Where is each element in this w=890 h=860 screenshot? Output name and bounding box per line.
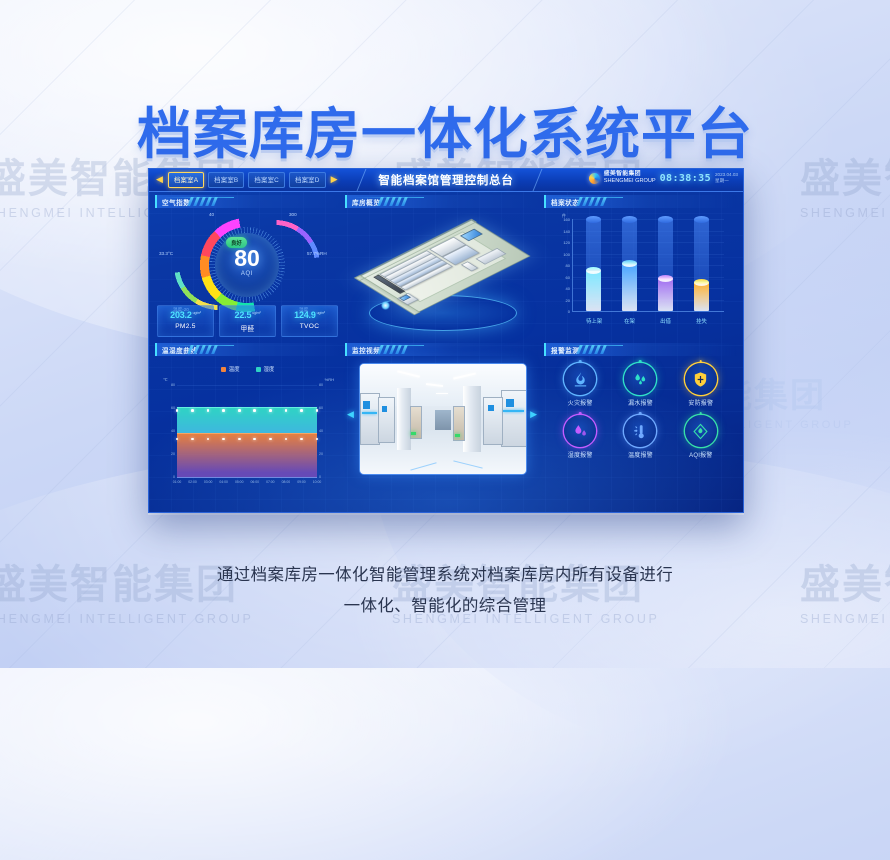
th-data-point [316, 409, 319, 412]
th-data-point [222, 409, 225, 412]
bar-y-tick: 80 [554, 263, 570, 268]
title-decoration [352, 197, 406, 206]
tab-archive-room-d[interactable]: 档案室D [289, 172, 326, 188]
caption-line-1: 通过档案库房一体化智能管理系统对档案库房内所有设备进行 [0, 560, 890, 591]
alarm-icon-circle [624, 363, 656, 395]
aqi-value: 80 [179, 247, 315, 270]
th-data-point [269, 438, 272, 441]
alarm-item-fire[interactable]: 火灾报警 [552, 363, 608, 407]
alarm-item-thermometer[interactable]: 温度报警 [612, 415, 668, 459]
prev-room-arrow[interactable]: ◀ [155, 175, 164, 184]
air-metrics: 203.2ug/m³ PM2.5 22.5ug/m³ 甲醛 124.9ug/m³… [157, 305, 338, 337]
title-decoration [162, 197, 216, 206]
pm25-value: 203.2ug/m³ [158, 310, 213, 320]
bar-y-tick: 20 [554, 298, 570, 303]
air-panel-title: 空气指数 [155, 195, 340, 208]
th-data-point [316, 438, 319, 441]
room-highlight-dot [381, 301, 390, 310]
tvoc-value: 124.9ug/m³ [282, 310, 337, 320]
alarm-item-water-drop[interactable]: 漏水报警 [612, 363, 668, 407]
tab-archive-room-a[interactable]: 档案室A [168, 172, 204, 188]
warehouse-overview-panel: 库房概览 [345, 195, 539, 337]
aqi-unit: AQI [179, 271, 315, 277]
th-y-tick-right: 60 [319, 406, 331, 410]
formaldehyde-label: 甲醛 [220, 323, 275, 333]
legend-temperature[interactable]: 温度 [221, 365, 240, 373]
th-y-right-unit: %RH [325, 377, 334, 382]
company-logo-icon [589, 173, 600, 184]
room-3d-model[interactable] [347, 213, 537, 333]
fire-icon [572, 371, 589, 388]
bar-y-tick: 40 [554, 286, 570, 291]
room-tabs: ◀ 档案室A 档案室B 档案室C 档案室D ▶ [155, 172, 339, 188]
alarm-indicator-dot [639, 412, 642, 415]
tab-archive-room-b[interactable]: 档案室B [208, 172, 244, 188]
th-x-tick: 06:00 [251, 480, 260, 484]
alarm-item-aqi-leaf[interactable]: AQI报警 [673, 415, 729, 459]
th-data-point [238, 438, 241, 441]
tvoc-label: TVOC [282, 323, 337, 330]
alarm-label: AQI报警 [673, 450, 729, 459]
alarm-label: 火灾报警 [552, 398, 608, 407]
th-y-tick-left: 20 [163, 452, 175, 456]
alarm-icon-circle [685, 415, 717, 447]
temp-humidity-panel: 温湿度曲线 温度 湿度 ℃ %RH 002020404060608080 01:… [155, 343, 340, 505]
alarm-item-humidity[interactable]: 湿度报警 [552, 415, 608, 459]
th-y-left-unit: ℃ [163, 377, 168, 382]
alarm-icon-circle [564, 415, 596, 447]
company-logo-text: 盛美智能集团SHENGMEI GROUP [604, 171, 656, 185]
th-x-tick: 05:00 [235, 480, 244, 484]
video-next-arrow[interactable]: ▶ [530, 409, 537, 420]
archive-status-panel: 档案状态 件 020406080100120140160 待上架在架出借挂失 [544, 195, 737, 337]
th-data-point [176, 409, 179, 412]
video-panel-title: 监控视频 [345, 343, 539, 356]
humidity-area [177, 407, 317, 434]
th-area-chart: ℃ %RH 002020404060608080 01:0002:0003:00… [161, 377, 334, 495]
alarm-monitoring-panel: 报警监测 火灾报警漏水报警安防报警湿度报警温度报警AQI报警 [544, 343, 737, 505]
th-y-tick-left: 60 [163, 406, 175, 410]
bar-y-tick: 160 [554, 217, 570, 222]
temperature-area [177, 433, 317, 478]
th-y-tick-right: 20 [319, 452, 331, 456]
date-display: 2023.04.03星期一 [715, 172, 738, 184]
shield-icon [692, 371, 709, 388]
metric-formaldehyde: 22.5ug/m³ 甲醛 [219, 305, 276, 337]
th-data-point [269, 409, 272, 412]
air-quality-panel: 空气指数 良好 80 AQI 33.3°C 温度-20 57.7%RH 湿度 4… [155, 195, 340, 337]
next-room-arrow[interactable]: ▶ [330, 175, 339, 184]
th-y-tick-right: 40 [319, 429, 331, 433]
page-title: 档案库房一体化系统平台 [0, 89, 890, 169]
alarm-panel-title: 报警监测 [544, 343, 737, 356]
th-data-point [191, 409, 194, 412]
alarm-label: 安防报警 [673, 398, 729, 407]
alarm-indicator-dot [700, 412, 703, 415]
metric-pm25: 203.2ug/m³ PM2.5 [157, 305, 214, 337]
water-drop-icon [632, 371, 649, 388]
bar-y-tick: 120 [554, 240, 570, 245]
formaldehyde-value: 22.5ug/m³ [220, 310, 275, 320]
header-right: 盛美智能集团SHENGMEI GROUP 08:38:35 2023.04.03… [589, 171, 738, 185]
alarm-label: 温度报警 [612, 450, 668, 459]
aqi-gauge: 良好 80 AQI 33.3°C 温度-20 57.7%RH 湿度 40 300 [179, 213, 315, 317]
th-x-tick: 10:00 [313, 480, 322, 484]
archive-status-bar-chart: 件 020406080100120140160 待上架在架出借挂失 [552, 215, 730, 329]
bar-y-tick: 60 [554, 275, 570, 280]
dashboard-screen: 智能档案馆管理控制总台 ◀ 档案室A 档案室B 档案室C 档案室D ▶ 盛美智能… [148, 168, 744, 513]
th-gridline [177, 385, 317, 386]
video-prev-arrow[interactable]: ◀ [347, 409, 354, 420]
gauge-temp-label: 33.3°C [159, 251, 173, 256]
th-y-tick-left: 80 [163, 383, 175, 387]
alarm-label: 漏水报警 [612, 398, 668, 407]
bar-y-tick: 100 [554, 252, 570, 257]
bar-gridline [573, 311, 724, 312]
thermometer-icon [632, 423, 649, 440]
humidity-icon [572, 423, 589, 440]
alarm-grid: 火灾报警漏水报警安防报警湿度报警温度报警AQI报警 [550, 363, 731, 459]
title-decoration [551, 345, 605, 354]
tab-archive-room-c[interactable]: 档案室C [248, 172, 285, 188]
title-decoration [162, 345, 216, 354]
alarm-indicator-dot [639, 360, 642, 363]
th-y-tick-right: 80 [319, 383, 331, 387]
th-y-tick-left: 0 [163, 475, 175, 479]
alarm-icon-circle [624, 415, 656, 447]
alarm-icon-circle [685, 363, 717, 395]
th-x-tick: 02:00 [188, 480, 197, 484]
video-feed[interactable] [359, 363, 527, 475]
aqi-leaf-icon [692, 423, 709, 440]
bar-fill [622, 264, 637, 311]
th-data-point [300, 409, 303, 412]
title-decoration [352, 345, 406, 354]
alarm-indicator-dot [579, 360, 582, 363]
surveillance-video-panel: 监控视频 ◀ ▶ [345, 343, 539, 505]
th-x-tick: 09:00 [297, 480, 306, 484]
bar-y-tick: 140 [554, 229, 570, 234]
bar-fill [694, 282, 709, 311]
bar-fill [586, 271, 601, 311]
metric-tvoc: 124.9ug/m³ TVOC [281, 305, 338, 337]
th-legend: 温度 湿度 [155, 365, 340, 373]
alarm-indicator-dot [700, 360, 703, 363]
caption: 通过档案库房一体化智能管理系统对档案库房内所有设备进行 一体化、智能化的综合管理 [0, 560, 890, 621]
legend-humidity[interactable]: 湿度 [256, 365, 275, 373]
bar-category-label: 待上架 [586, 317, 601, 325]
th-data-point [285, 409, 288, 412]
th-plot-area: 002020404060608080 01:0002:0003:0004:000… [177, 385, 317, 479]
th-data-point [253, 409, 256, 412]
gauge-scale-min: 40 [209, 212, 214, 217]
caption-line-2: 一体化、智能化的综合管理 [0, 591, 890, 622]
title-decoration [551, 197, 605, 206]
th-x-tick: 04:00 [219, 480, 228, 484]
th-x-tick: 03:00 [204, 480, 213, 484]
bar-category-label: 出借 [658, 317, 673, 325]
th-x-tick: 01:00 [173, 480, 182, 484]
alarm-indicator-dot [579, 412, 582, 415]
dashboard-header: 智能档案馆管理控制总台 ◀ 档案室A 档案室B 档案室C 档案室D ▶ 盛美智能… [149, 169, 743, 192]
clock: 08:38:35 [660, 173, 711, 184]
bar-y-tick: 0 [554, 309, 570, 314]
gauge-scale-max: 300 [289, 212, 297, 217]
status-panel-title: 档案状态 [544, 195, 737, 208]
gauge-humidity-label: 57.7%RH [307, 251, 327, 256]
th-y-tick-left: 40 [163, 429, 175, 433]
bar-category-label: 在架 [622, 317, 637, 325]
alarm-item-shield[interactable]: 安防报警 [673, 363, 729, 407]
pm25-label: PM2.5 [158, 323, 213, 330]
bar-fill [658, 278, 673, 311]
bar-category-label: 挂失 [694, 317, 709, 325]
th-panel-title: 温湿度曲线 [155, 343, 340, 356]
th-x-tick: 07:00 [266, 480, 275, 484]
th-data-point [238, 409, 241, 412]
th-y-tick-right: 0 [319, 475, 331, 479]
alarm-label: 湿度报警 [552, 450, 608, 459]
th-x-tick: 08:00 [282, 480, 291, 484]
room-panel-title: 库房概览 [345, 195, 539, 208]
alarm-icon-circle [564, 363, 596, 395]
